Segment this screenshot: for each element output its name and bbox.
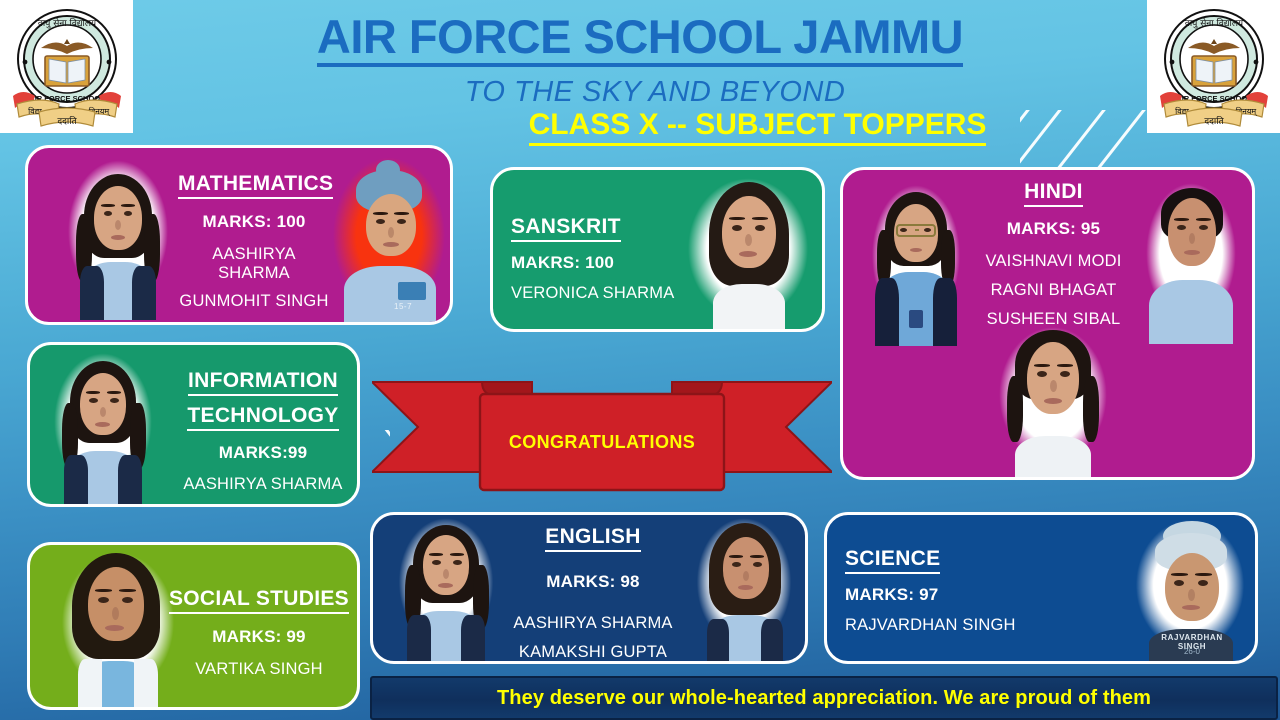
student-photo [685,517,803,664]
subject-label: SANSKRIT [511,215,621,242]
student-photo [983,320,1123,480]
congratulations-ribbon: CONGRATULATIONS [372,372,832,494]
student-photo [861,178,971,346]
subject-label-line1: INFORMATION [188,369,338,396]
topper-card-information-technology[interactable]: INFORMATION TECHNOLOGY MARKS:99 AASHIRYA… [27,342,360,507]
student-photo [673,172,823,332]
student-photo [42,349,164,507]
student-name: AASHIRYA SHARMA [170,475,356,494]
subject-label-line2: TECHNOLOGY [187,404,338,431]
student-photo: 15-7 [328,154,450,324]
marks-label: MARKS: 100 [178,212,330,232]
subject-label: MATHEMATICS [178,172,333,199]
marks-label: MARKS: 99 [164,627,354,647]
student-name: RAJVARDHAN SINGH [845,616,1016,635]
student-name: GUNMOHIT SINGH [178,292,330,311]
student-photo [387,517,505,664]
photo-overlay-timestamp: 26-0 [1149,647,1235,656]
photo-overlay-text: 15-7 [394,302,412,311]
marks-label: MARKS: 95 [971,219,1136,239]
subject-label: SOCIAL STUDIES [169,587,349,614]
topper-card-science[interactable]: RAJVARDHAN SINGH 26-0 SCIENCE MARKS: 97 … [824,512,1258,664]
ribbon-label: CONGRATULATIONS [372,432,832,453]
subject-label: ENGLISH [545,525,640,552]
marks-label: MAKRS: 100 [511,253,674,273]
student-name: RAGNI BHAGAT [971,281,1136,300]
subject-label: HINDI [1024,180,1083,207]
student-name: KAMAKSHI GUPTA [505,643,681,662]
marks-label: MARKS: 98 [505,572,681,592]
student-name: VAISHNAVI MODI [971,252,1136,271]
student-name: AASHIRYA SHARMA [178,245,330,283]
student-name: VARTIKA SINGH [164,660,354,679]
student-name: SUSHEEN SIBAL [971,310,1136,329]
topper-card-sanskrit[interactable]: SANSKRIT MAKRS: 100 VERONICA SHARMA [490,167,825,332]
marks-label: MARKS:99 [170,443,356,463]
topper-card-english[interactable]: ENGLISH MARKS: 98 AASHIRYA SHARMA KAMAKS… [370,512,808,664]
student-name: VERONICA SHARMA [511,284,674,303]
marks-label: MARKS: 97 [845,585,1016,605]
school-name-text: AIR FORCE SCHOOL JAMMU [317,12,963,67]
class-topper-title-text: CLASS X -- SUBJECT TOPPERS [529,108,987,146]
page-title: AIR FORCE SCHOOL JAMMU [0,12,1280,67]
subject-label: SCIENCE [845,547,940,574]
class-topper-title: CLASS X -- SUBJECT TOPPERS [0,108,1280,146]
school-motto: TO THE SKY AND BEYOND [0,76,1280,109]
student-photo: RAJVARDHAN SINGH 26-0 [1125,517,1255,664]
appreciation-banner: They deserve our whole-hearted appreciat… [370,676,1278,720]
topper-card-mathematics[interactable]: 15-7 MATHEMATICS MARKS: 100 AASHIRYA SHA… [25,145,453,325]
appreciation-banner-text: They deserve our whole-hearted appreciat… [497,687,1151,710]
student-name: AASHIRYA SHARMA [505,614,681,633]
topper-card-hindi[interactable]: HINDI MARKS: 95 VAISHNAVI MODI RAGNI BHA… [840,167,1255,480]
student-photo [1135,176,1247,344]
topper-card-social-studies[interactable]: SOCIAL STUDIES MARKS: 99 VARTIKA SINGH [27,542,360,710]
student-photo [58,156,178,320]
